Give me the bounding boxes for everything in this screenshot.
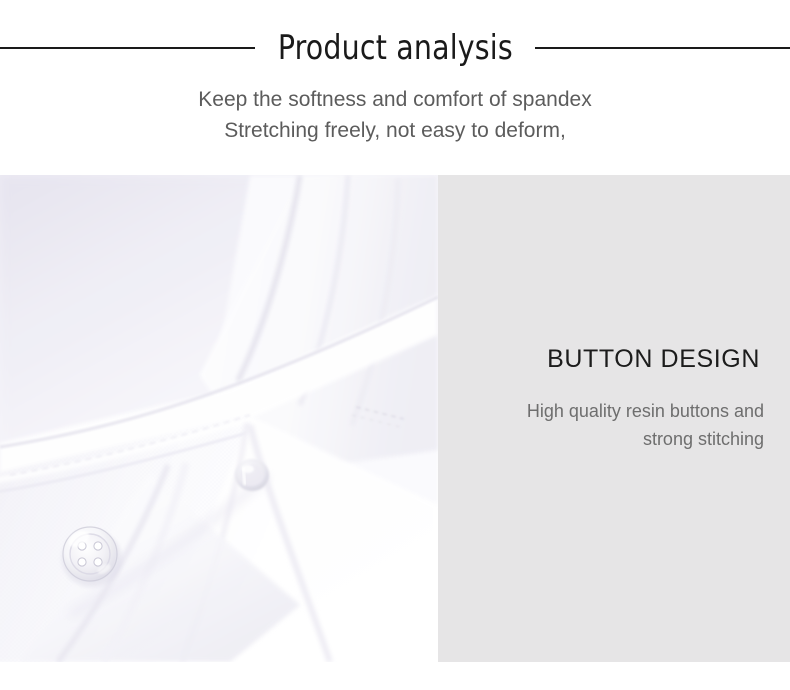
header: Product analysis Keep the softness and c…: [0, 0, 790, 175]
info-panel-heading: BUTTON DESIGN: [547, 345, 760, 374]
page-title: Product analysis: [264, 28, 525, 68]
subtitle: Keep the softness and comfort of spandex…: [0, 84, 790, 146]
subtitle-line-1: Keep the softness and comfort of spandex: [0, 84, 790, 115]
info-panel-description: High quality resin buttons and strong st…: [474, 397, 764, 453]
info-panel: BUTTON DESIGN High quality resin buttons…: [438, 175, 790, 662]
info-panel-description-line-1: High quality resin buttons and: [474, 397, 764, 425]
title-rule-right: [535, 47, 790, 49]
page-title-row: Product analysis: [0, 26, 790, 70]
product-analysis-page: Product analysis Keep the softness and c…: [0, 0, 790, 690]
subtitle-line-2: Stretching freely, not easy to deform,: [0, 115, 790, 146]
shirt-collar-illustration: [0, 175, 438, 662]
product-photo: [0, 175, 438, 662]
title-rule-left: [0, 47, 255, 49]
content-band: BUTTON DESIGN High quality resin buttons…: [0, 175, 790, 662]
info-panel-description-line-2: strong stitching: [474, 425, 764, 453]
